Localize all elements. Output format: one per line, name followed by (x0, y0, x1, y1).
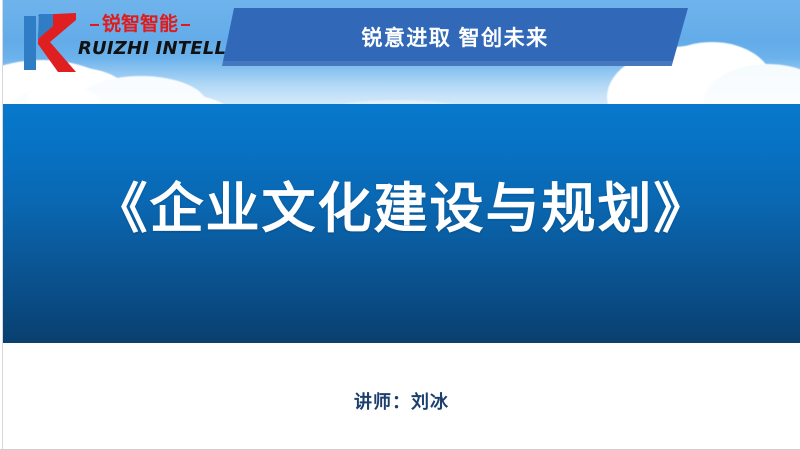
logo-chinese-name: 锐智智能 (102, 12, 178, 38)
logo-dash-left-icon (90, 24, 99, 26)
title-block: 《企业文化建设与规划》 (3, 104, 800, 343)
stylized-r-logo-icon (22, 10, 76, 76)
logo-english-name: RUIZHI INTELL (78, 38, 202, 60)
logo-dash-right-icon (181, 24, 190, 26)
logo-chinese-name-row: 锐智智能 (78, 12, 202, 38)
presentation-slide: 锐意进取 智创未来 锐智智能 RUIZHI INTELL 《企业文化建设与规划》… (0, 0, 800, 450)
slogan-banner: 锐意进取 智创未来 (222, 8, 688, 66)
presenter-area: 讲师：刘冰 (3, 343, 800, 450)
page-left-rule (2, 0, 3, 450)
slogan-text: 锐意进取 智创未来 (222, 22, 688, 52)
company-logo: 锐智智能 RUIZHI INTELL (22, 8, 202, 80)
logo-wordmark: 锐智智能 RUIZHI INTELL (78, 12, 202, 60)
presenter-name: 讲师：刘冰 (3, 388, 800, 414)
slide-title: 《企业文化建设与规划》 (3, 178, 800, 240)
